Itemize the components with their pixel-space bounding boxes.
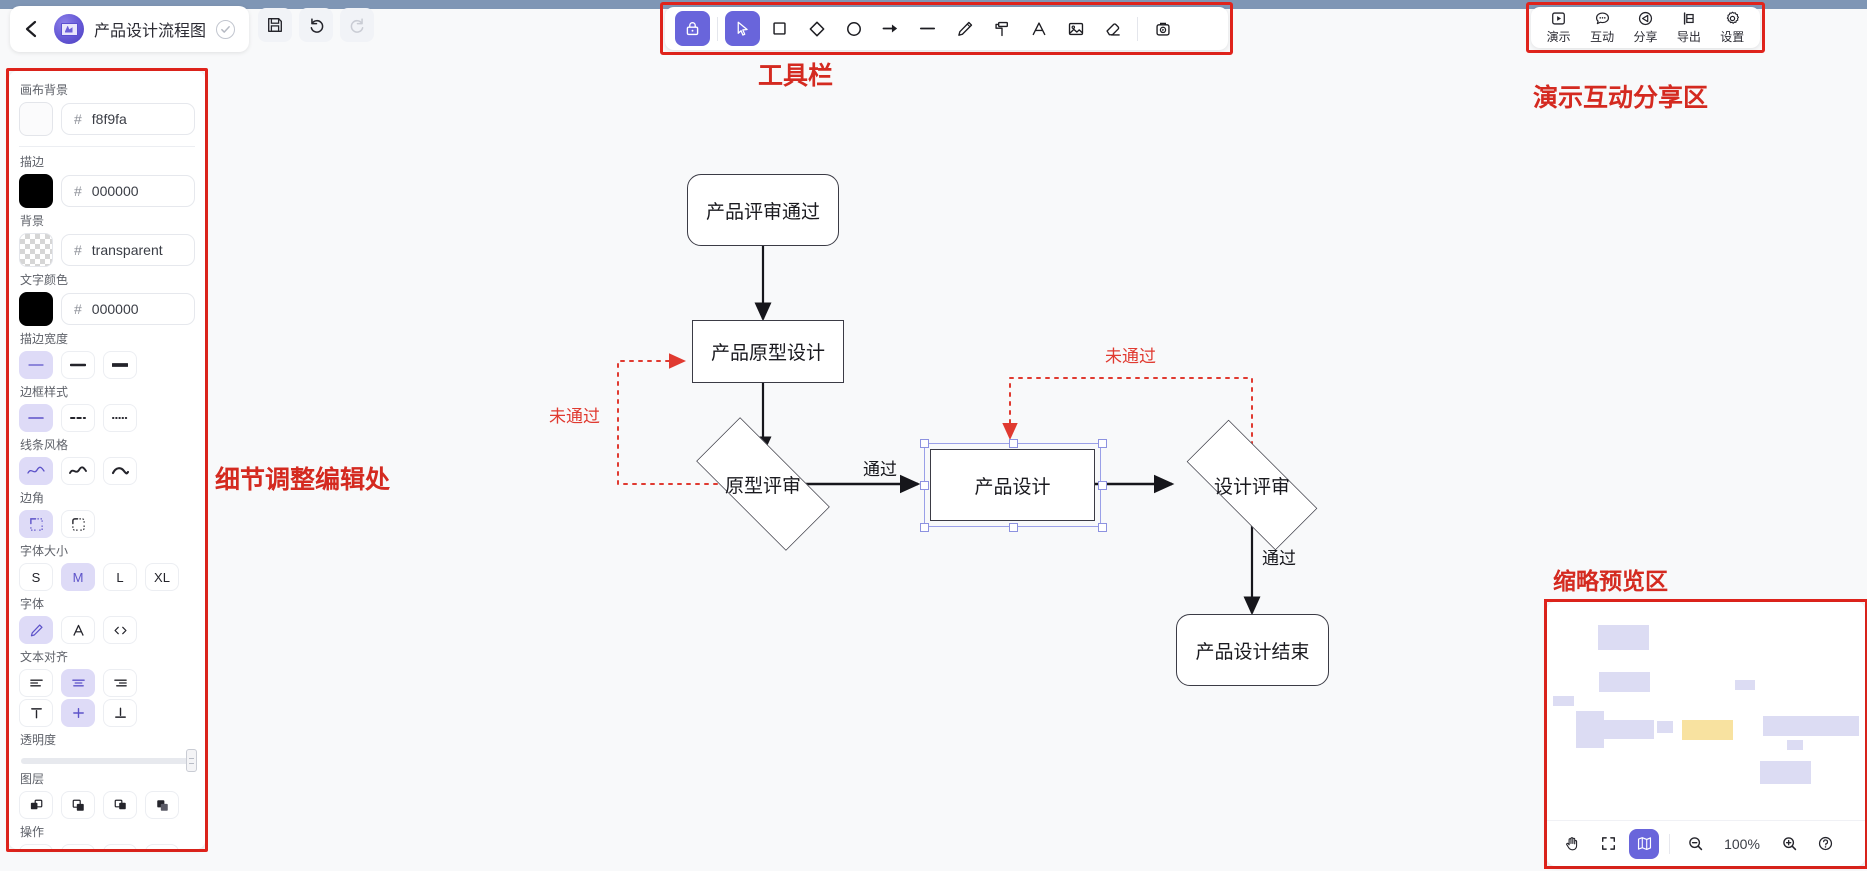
- stroke-row: # 000000: [19, 174, 195, 208]
- line-icon[interactable]: [910, 11, 945, 46]
- help-icon[interactable]: [1810, 829, 1840, 859]
- resize-handle-s[interactable]: [1009, 523, 1018, 532]
- hash-prefix: #: [74, 242, 82, 258]
- main-toolbar: [665, 7, 1228, 50]
- bring-to-front-icon[interactable]: [145, 791, 179, 819]
- chevron-left-icon[interactable]: [18, 16, 44, 42]
- delete-icon[interactable]: [61, 844, 95, 849]
- node-prototype-design[interactable]: 产品原型设计: [692, 320, 844, 383]
- minimap-block: [1603, 720, 1654, 740]
- minimap-canvas[interactable]: [1547, 602, 1865, 820]
- diamond-icon[interactable]: [799, 11, 834, 46]
- background-value: transparent: [92, 242, 163, 258]
- node-prototype-review[interactable]: 原型评审: [673, 440, 853, 528]
- line-style-options: [19, 457, 195, 485]
- node-label: 产品设计: [974, 472, 1050, 499]
- canvas-bg-input[interactable]: # f8f9fa: [61, 103, 195, 135]
- font-family-options: [19, 616, 195, 644]
- hand-icon[interactable]: [1557, 829, 1587, 859]
- annotation-panel: 细节调整编辑处: [215, 460, 390, 496]
- stroke-thin-icon[interactable]: [19, 351, 53, 379]
- font-family-label: 字体: [20, 595, 195, 612]
- actions-label: 操作: [20, 823, 195, 840]
- node-design-review[interactable]: 设计评审: [1163, 443, 1341, 527]
- share-item-settings[interactable]: 设置: [1711, 10, 1753, 45]
- bring-forward-icon[interactable]: [103, 791, 137, 819]
- stroke-medium-icon[interactable]: [61, 351, 95, 379]
- align-center-icon[interactable]: [61, 669, 95, 697]
- minimap-block: [1787, 740, 1803, 750]
- properties-panel: 画布背景 # f8f9fa 描边 # 000000 背景: [9, 71, 205, 849]
- opacity-label: 透明度: [20, 731, 195, 748]
- share-bar-highlight: 演示 互动 分享 导出 设置: [1526, 2, 1765, 53]
- node-label: 设计评审: [1214, 472, 1290, 499]
- align-middle-icon[interactable]: [61, 699, 95, 727]
- background-swatch[interactable]: [19, 233, 53, 267]
- text-color-swatch[interactable]: [19, 292, 53, 326]
- circle-icon[interactable]: [836, 11, 871, 46]
- line-architect-icon[interactable]: [19, 457, 53, 485]
- resize-handle-n[interactable]: [1009, 439, 1018, 448]
- stroke-bold-icon[interactable]: [103, 351, 137, 379]
- minimap-block: [1735, 680, 1756, 690]
- text-color-value: 000000: [92, 301, 139, 317]
- border-style-options: [19, 404, 195, 432]
- line-style-label: 线条风格: [20, 436, 195, 453]
- toolbar-divider-2: [1137, 17, 1138, 41]
- text-color-row: # 000000: [19, 292, 195, 326]
- text-align-vertical-options: [19, 699, 195, 727]
- panel-divider: [19, 146, 195, 147]
- annotation-toolbar: 工具栏: [758, 56, 833, 92]
- font-size-options: S M L XL: [19, 563, 195, 591]
- redo-icon[interactable]: [340, 8, 374, 42]
- share-item-label: 设置: [1720, 28, 1744, 45]
- pencil-icon[interactable]: [947, 11, 982, 46]
- canvas-bg-value: f8f9fa: [92, 111, 127, 127]
- minimap-block: [1599, 672, 1650, 693]
- font-size-s-option[interactable]: S: [19, 563, 53, 591]
- stroke-width-label: 描边宽度: [20, 330, 195, 347]
- map-icon[interactable]: [1629, 829, 1659, 859]
- page-title: 产品设计流程图: [94, 17, 206, 41]
- opacity-slider[interactable]: [21, 758, 193, 764]
- node-product-review-passed[interactable]: 产品评审通过: [687, 174, 839, 246]
- align-left-icon[interactable]: [19, 669, 53, 697]
- arrow-icon[interactable]: [873, 11, 908, 46]
- minimap-block: [1598, 625, 1649, 650]
- undo-icon[interactable]: [299, 8, 333, 42]
- duplicate-icon[interactable]: [19, 844, 53, 849]
- stroke-swatch[interactable]: [19, 174, 53, 208]
- minimap-block: [1763, 716, 1858, 736]
- check-circle-icon: [216, 20, 235, 39]
- align-top-icon[interactable]: [19, 699, 53, 727]
- line-artist-icon[interactable]: [61, 457, 95, 485]
- zoom-out-icon[interactable]: [1680, 829, 1710, 859]
- background-input[interactable]: # transparent: [61, 234, 195, 266]
- resize-handle-ne[interactable]: [1098, 439, 1107, 448]
- node-product-design-end[interactable]: 产品设计结束: [1176, 614, 1329, 686]
- minimap-block: [1657, 721, 1673, 733]
- lock-icon[interactable]: [675, 11, 710, 46]
- stroke-label: 描边: [20, 153, 195, 170]
- font-size-label: 字体大小: [20, 542, 195, 559]
- node-product-design[interactable]: 产品设计: [930, 449, 1095, 521]
- background-label: 背景: [20, 212, 195, 229]
- align-bottom-icon[interactable]: [103, 699, 137, 727]
- minimap-block: [1576, 711, 1605, 748]
- properties-panel-highlight: 画布背景 # f8f9fa 描边 # 000000 背景: [6, 68, 208, 852]
- app-root: 产品评审通过 产品原型设计 原型评审 产品设计 设计评审 产品设计结束: [0, 0, 1867, 871]
- minimap-block: [1760, 761, 1811, 784]
- layer-options: [19, 791, 195, 819]
- text-align-label: 文本对齐: [20, 648, 195, 665]
- resize-handle-sw[interactable]: [920, 523, 929, 532]
- node-label: 产品原型设计: [711, 338, 825, 365]
- node-label: 原型评审: [725, 471, 801, 498]
- border-dotted-icon[interactable]: [103, 404, 137, 432]
- font-code-icon[interactable]: [103, 616, 137, 644]
- border-style-label: 边框样式: [20, 383, 195, 400]
- text-align-horizontal-options: [19, 669, 195, 697]
- minimap-highlight: 100%: [1544, 599, 1867, 869]
- layer-label: 图层: [20, 770, 195, 787]
- document-logo-icon: [54, 14, 84, 44]
- main-toolbar-highlight: [660, 2, 1233, 55]
- hash-prefix: #: [74, 301, 82, 317]
- hash-prefix: #: [74, 111, 82, 127]
- stroke-value: 000000: [92, 183, 139, 199]
- share-item-label: 演示: [1547, 28, 1571, 45]
- share-item-label: 互动: [1590, 28, 1614, 45]
- fit-screen-icon[interactable]: [1593, 829, 1623, 859]
- eraser-icon[interactable]: [1095, 11, 1130, 46]
- minimap-block: [1553, 696, 1574, 706]
- toolbar-divider-1: [717, 17, 718, 41]
- align-right-icon[interactable]: [103, 669, 137, 697]
- font-size-l-option[interactable]: L: [103, 563, 137, 591]
- corner-options: [19, 510, 195, 538]
- marker-icon[interactable]: [984, 11, 1019, 46]
- share-item-label: 分享: [1633, 28, 1657, 45]
- actions-options: [19, 844, 195, 849]
- node-label: 产品评审通过: [706, 197, 820, 224]
- cursor-icon[interactable]: [725, 11, 760, 46]
- text-color-label: 文字颜色: [20, 271, 195, 288]
- share-item-label: 导出: [1677, 28, 1701, 45]
- font-size-m-option[interactable]: M: [61, 563, 95, 591]
- canvas-bg-swatch[interactable]: [19, 102, 53, 136]
- resize-handle-w[interactable]: [920, 481, 929, 490]
- document-titlebar: 产品设计流程图: [10, 6, 249, 52]
- canvas-bg-row: # f8f9fa: [19, 102, 195, 136]
- font-normal-icon[interactable]: [61, 616, 95, 644]
- send-backward-icon[interactable]: [61, 791, 95, 819]
- text-color-input[interactable]: # 000000: [61, 293, 195, 325]
- hash-prefix: #: [74, 183, 82, 199]
- corner-label: 边角: [20, 489, 195, 506]
- font-size-xl-option[interactable]: XL: [145, 563, 179, 591]
- image-icon[interactable]: [1058, 11, 1093, 46]
- stroke-input[interactable]: # 000000: [61, 175, 195, 207]
- font-handdrawn-icon[interactable]: [19, 616, 53, 644]
- titlebar-actions: [258, 8, 374, 42]
- link-icon[interactable]: [145, 844, 179, 849]
- share-item-present[interactable]: 演示: [1538, 10, 1580, 45]
- border-dashed-icon[interactable]: [61, 404, 95, 432]
- copy-style-icon[interactable]: [103, 844, 137, 849]
- text-icon[interactable]: [1021, 11, 1056, 46]
- annotation-minimap: 缩略预览区: [1553, 562, 1668, 596]
- minimap-divider: [1669, 834, 1670, 854]
- zoom-level[interactable]: 100%: [1716, 836, 1768, 852]
- background-row: # transparent: [19, 233, 195, 267]
- save-icon[interactable]: [258, 8, 292, 42]
- share-bar: 演示 互动 分享 导出 设置: [1531, 7, 1760, 48]
- send-to-back-icon[interactable]: [19, 791, 53, 819]
- library-icon[interactable]: [1145, 11, 1180, 46]
- zoom-in-icon[interactable]: [1774, 829, 1804, 859]
- corner-sharp-icon[interactable]: [19, 510, 53, 538]
- resize-handle-se[interactable]: [1098, 523, 1107, 532]
- square-icon[interactable]: [762, 11, 797, 46]
- node-label: 产品设计结束: [1195, 637, 1309, 664]
- resize-handle-nw[interactable]: [920, 439, 929, 448]
- opacity-slider-thumb[interactable]: [186, 749, 197, 772]
- minimap-panel: 100%: [1547, 602, 1865, 866]
- canvas-bg-label: 画布背景: [20, 81, 195, 98]
- resize-handle-e[interactable]: [1098, 481, 1107, 490]
- minimap-block: [1682, 720, 1733, 741]
- minimap-toolbar: 100%: [1547, 820, 1865, 866]
- stroke-width-options: [19, 351, 195, 379]
- share-item-interact[interactable]: 互动: [1581, 10, 1623, 45]
- line-cartoon-icon[interactable]: [103, 457, 137, 485]
- annotation-share: 演示互动分享区: [1533, 78, 1708, 114]
- corner-round-icon[interactable]: [61, 510, 95, 538]
- border-solid-icon[interactable]: [19, 404, 53, 432]
- share-item-export[interactable]: 导出: [1668, 10, 1710, 45]
- share-item-share[interactable]: 分享: [1624, 10, 1666, 45]
